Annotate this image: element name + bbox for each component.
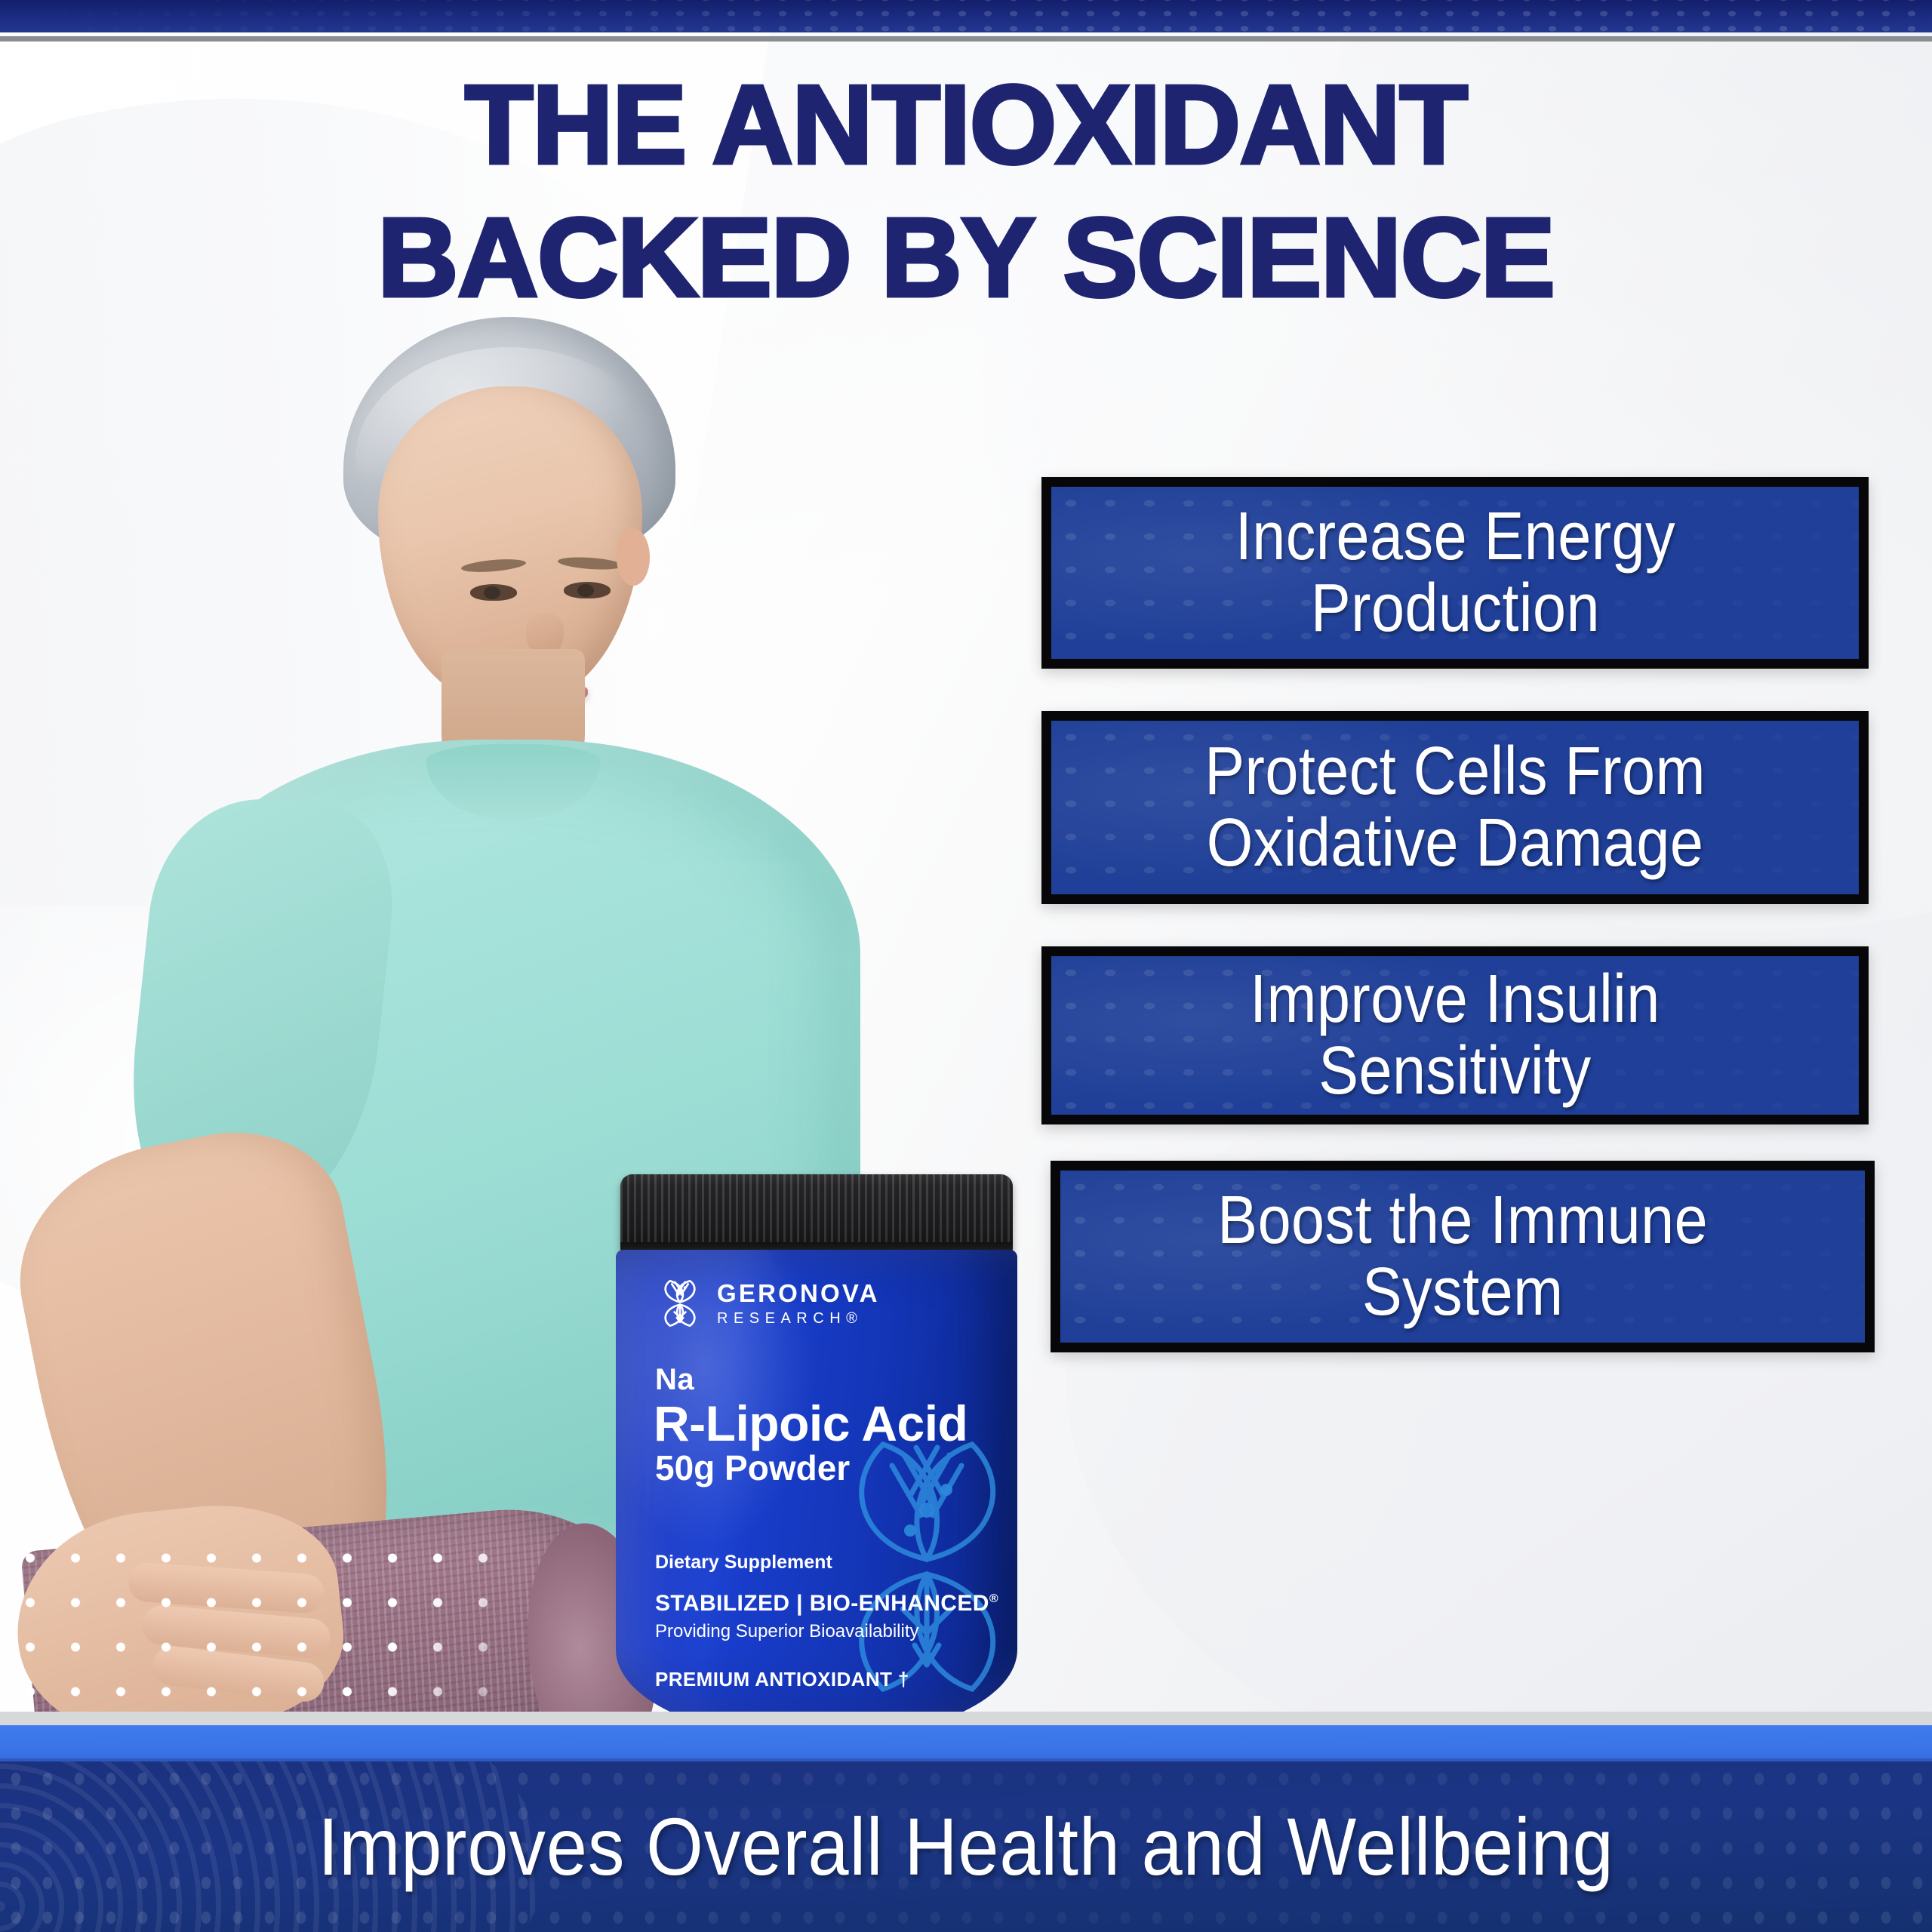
product-claim-sub: Providing Superior Bioavailability <box>655 1621 919 1642</box>
brand-name: GERONOVA <box>717 1281 880 1306</box>
brand-logo: GERONOVA RESEARCH® <box>655 1278 880 1328</box>
bottom-gray-strip <box>0 1712 1932 1725</box>
claim-registered-mark: ® <box>989 1592 998 1605</box>
bottom-blue-band <box>0 1725 1932 1761</box>
product-claim-main: STABILIZED | BIO-ENHANCED® <box>655 1591 998 1617</box>
product-size: 50g Powder <box>655 1447 850 1488</box>
benefit-label: Increase Energy Production <box>1223 501 1687 645</box>
benefit-box-2: Protect Cells From Oxidative Damage <box>1041 711 1869 904</box>
benefit-label: Improve Insulin Sensitivity <box>1238 964 1672 1108</box>
product-name: R-Lipoic Acid <box>654 1395 968 1452</box>
supplement-type-label: Dietary Supplement <box>655 1552 832 1574</box>
product-claim-premium: PREMIUM ANTIOXIDANT † <box>655 1668 909 1691</box>
ad-canvas: THE ANTIOXIDANT BACKED BY SCIENCE <box>0 0 1932 1932</box>
benefit-box-4: Boost the Immune System <box>1051 1161 1875 1352</box>
benefit-box-1: Increase Energy Production <box>1041 477 1869 669</box>
footer-tagline: Improves Overall Health and Wellbeing <box>97 1761 1835 1932</box>
product-jar: GERONOVA RESEARCH® Na R-Lipoic Acid 50g … <box>604 1174 1034 1740</box>
brand-wordmark: GERONOVA RESEARCH® <box>717 1281 880 1326</box>
footer-banner: Improves Overall Health and Wellbeing <box>0 1761 1932 1932</box>
product-prefix: Na <box>655 1363 694 1397</box>
claim-main-text: STABILIZED | BIO-ENHANCED <box>655 1591 989 1616</box>
brand-subname: RESEARCH® <box>717 1311 880 1326</box>
jar-lid <box>620 1174 1013 1256</box>
benefit-label: Boost the Immune System <box>1205 1185 1719 1329</box>
benefit-box-3: Improve Insulin Sensitivity <box>1041 946 1869 1124</box>
benefit-label: Protect Cells From Oxidative Damage <box>1192 736 1717 880</box>
geronova-dna-leaf-icon <box>655 1278 705 1328</box>
jar-body: GERONOVA RESEARCH® Na R-Lipoic Acid 50g … <box>616 1250 1017 1737</box>
